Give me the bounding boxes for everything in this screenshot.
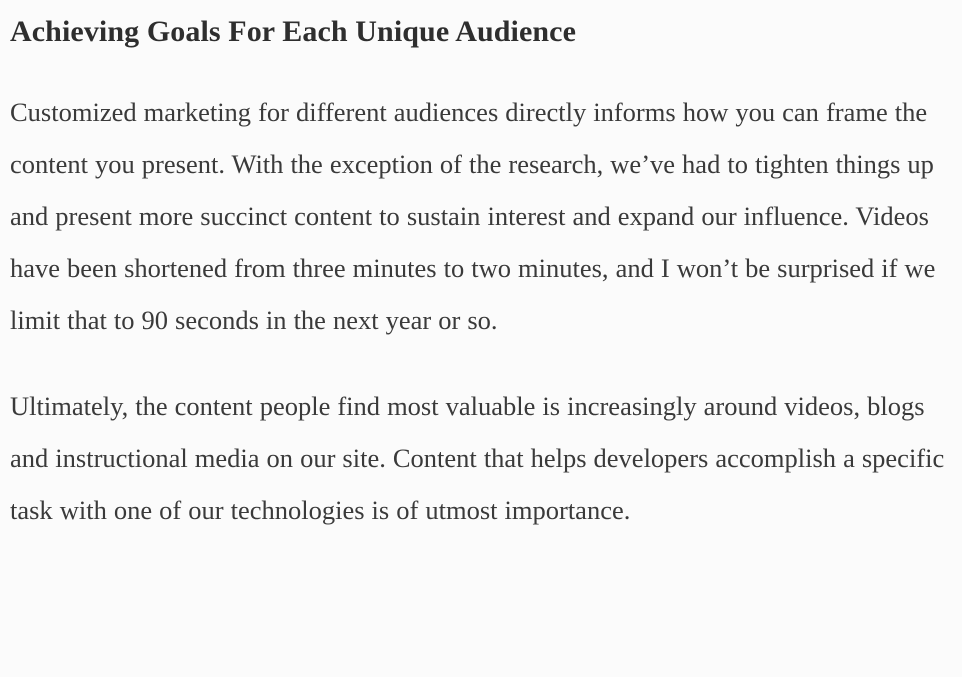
page-title: Achieving Goals For Each Unique Audience — [10, 10, 948, 54]
article-container: Achieving Goals For Each Unique Audience… — [0, 0, 962, 677]
article-paragraph-2: Ultimately, the content people find most… — [10, 380, 948, 536]
article-paragraph-1: Customized marketing for different audie… — [10, 86, 948, 346]
article-body: Customized marketing for different audie… — [10, 86, 948, 536]
